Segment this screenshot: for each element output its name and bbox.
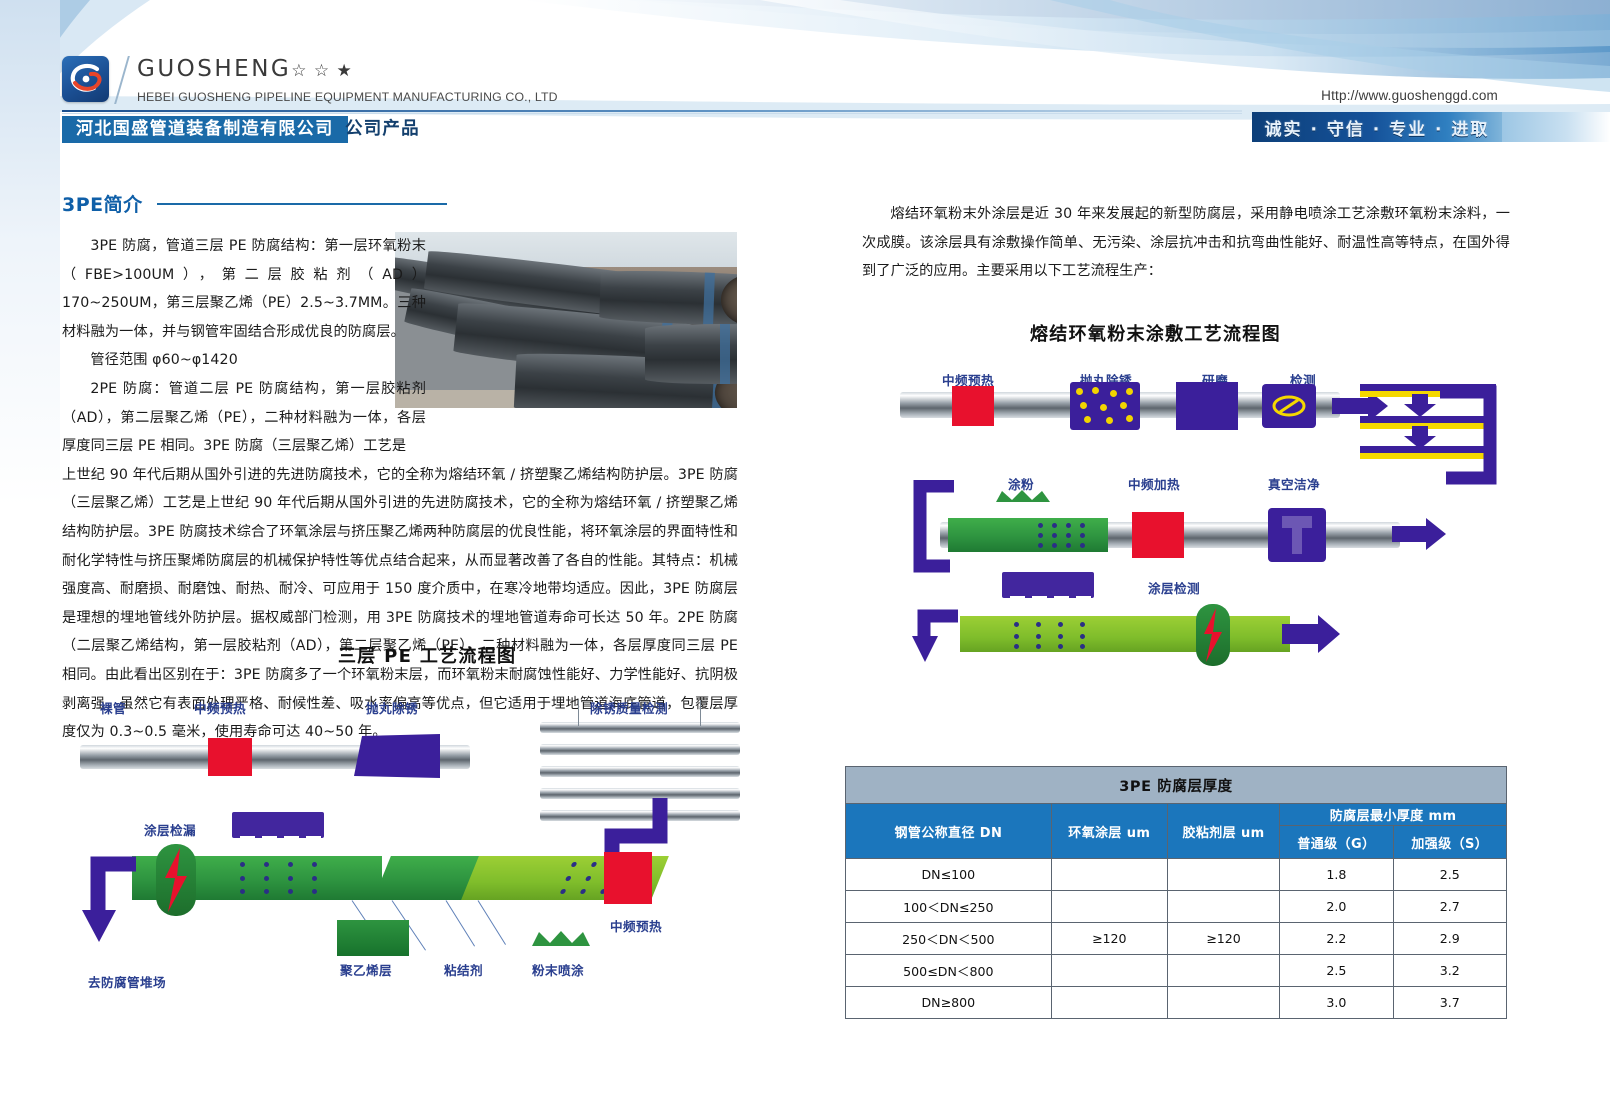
arrow-right-r2 [1392, 516, 1450, 552]
out-arrow-r3 [910, 600, 964, 674]
water-drip [1032, 596, 1047, 610]
cell-dn: 500≤DN＜800 [846, 955, 1052, 987]
pe-layer-swatch [337, 920, 409, 956]
cell-dn: 100＜DN≤250 [846, 891, 1052, 923]
preheat-coil-left [208, 738, 252, 776]
th-min-thickness: 防腐层最小厚度 mm [1280, 804, 1507, 826]
company-name-cn: 河北国盛管道装备制造有限公司 [62, 116, 348, 143]
left-edge-gradient [0, 0, 60, 1100]
cell-dn: DN≤100 [846, 859, 1052, 891]
th-enhanced-grade: 加强级（S） [1393, 826, 1506, 859]
arrow-down-vacuum [1404, 426, 1440, 450]
brochure-page: GUOSHENG☆ ☆ ★ HEBEI GUOSHENG PIPELINE EQ… [0, 0, 1610, 1100]
vacuum-unit-r2 [1268, 508, 1326, 562]
logo-divider [114, 56, 130, 104]
products-label-cn: 公司产品 [345, 115, 420, 140]
qc-tick [578, 700, 579, 726]
left-text-column: 3PE 防腐，管道三层 PE 防腐结构：第一层环氧粉末（FBE>100UM），第… [62, 232, 738, 747]
brand-stars-icon: ☆ ☆ ★ [291, 61, 353, 81]
cell-normal: 3.0 [1280, 987, 1393, 1019]
section-title-text: 3PE简介 [62, 190, 143, 217]
qc-tick [700, 700, 701, 726]
section-title-rule [157, 203, 447, 205]
label-to-yard: 去防腐管堆场 [88, 972, 166, 991]
brand-subtitle-en: HEBEI GUOSHENG PIPELINE EQUIPMENT MANUFA… [137, 90, 558, 104]
shotblast-unit-r1 [1070, 382, 1140, 430]
water-drip [1054, 596, 1069, 610]
label-pe-layer: 聚乙烯层 [340, 960, 392, 979]
label-preheat-left-2: 中频预热 [610, 916, 662, 935]
cell-adhesive [1167, 987, 1279, 1019]
water-drip [1010, 596, 1025, 610]
cell-enhanced: 2.7 [1393, 891, 1506, 923]
label-coating-test-r3: 涂层检测 [1148, 578, 1200, 597]
grind-unit-r1 [1176, 382, 1238, 430]
shotblast-unit-left [352, 732, 442, 780]
guosheng-logo-icon [62, 56, 109, 102]
label-rust-qc: 除锈质量检测 [590, 698, 668, 717]
label-induction-heat-r2: 中频加热 [1128, 474, 1180, 493]
water-drip [306, 836, 321, 850]
callout-line [446, 900, 475, 946]
th-normal-grade: 普通级（G） [1280, 826, 1393, 859]
th-adhesive: 胶粘剂层 um [1167, 804, 1279, 859]
brand-name-en: GUOSHENG☆ ☆ ★ [137, 56, 558, 81]
arrow-right-r3 [1282, 612, 1344, 656]
preheat-coil-left-2 [604, 852, 652, 904]
header-rule-secondary [62, 113, 1242, 114]
table-caption: 3PE 防腐层厚度 [846, 767, 1507, 804]
cell-adhesive [1167, 859, 1279, 891]
water-drip [240, 836, 255, 850]
return-path-r1 [1438, 384, 1506, 486]
slogan-text: 诚实 · 守信 · 专业 · 进取 [1265, 115, 1490, 140]
label-vacuum-clean-r2: 真空洁净 [1268, 474, 1320, 493]
cell-normal: 2.0 [1280, 891, 1393, 923]
right-diagram-title: 熔结环氧粉末涂敷工艺流程图 [1030, 320, 1281, 346]
website-url[interactable]: Http://www.guoshenggd.com [1321, 88, 1498, 103]
cell-adhesive: ≥120 [1167, 923, 1279, 955]
table-caption-row: 3PE 防腐层厚度 [846, 767, 1507, 804]
cell-enhanced: 3.7 [1393, 987, 1506, 1019]
table-row: DN≥800 3.0 3.7 [846, 987, 1507, 1019]
out-arrow-left [78, 846, 144, 978]
table-row: 250＜DN＜500 ≥120 ≥120 2.2 2.9 [846, 923, 1507, 955]
cell-epoxy [1051, 891, 1167, 923]
induction-heater-r2 [1132, 512, 1184, 558]
th-epoxy: 环氧涂层 um [1051, 804, 1167, 859]
cell-epoxy [1051, 987, 1167, 1019]
table-row: 100＜DN≤250 2.0 2.7 [846, 891, 1507, 923]
coating-tester-r3 [1196, 604, 1230, 666]
feed-path-r2 [910, 480, 960, 580]
coating-green-r3 [960, 616, 1290, 652]
label-adhesive: 粘结剂 [444, 960, 483, 979]
callout-line [478, 900, 506, 945]
cell-enhanced: 2.9 [1393, 923, 1506, 955]
water-cool-unit-left [232, 812, 324, 838]
slogan-tail-decoration [1502, 112, 1610, 142]
table-header-row-1: 钢管公称直径 DN 环氧涂层 um 胶粘剂层 um 防腐层最小厚度 mm [846, 804, 1507, 826]
cell-epoxy [1051, 955, 1167, 987]
th-dn: 钢管公称直径 DN [846, 804, 1052, 859]
cell-normal: 2.5 [1280, 955, 1393, 987]
cell-normal: 2.2 [1280, 923, 1393, 955]
inspect-unit-r1 [1262, 384, 1316, 428]
water-drip [284, 836, 299, 850]
cell-adhesive [1167, 955, 1279, 987]
leak-detector-left [156, 844, 196, 916]
powder-spray-icon [528, 926, 596, 948]
cell-dn: DN≥800 [846, 987, 1052, 1019]
powder-hopper-icon [992, 486, 1058, 504]
table-row: 500≤DN＜800 2.5 3.2 [846, 955, 1507, 987]
header-rule [62, 110, 1242, 112]
company-logo-block: GUOSHENG☆ ☆ ★ HEBEI GUOSHENG PIPELINE EQ… [62, 56, 558, 104]
brand-text: GUOSHENG [137, 56, 291, 82]
water-cool-unit-r3 [1002, 572, 1094, 598]
label-leak-test: 涂层检漏 [144, 820, 196, 839]
coating-thickness-table: 3PE 防腐层厚度 钢管公称直径 DN 环氧涂层 um 胶粘剂层 um 防腐层最… [845, 766, 1507, 1019]
water-drip [1076, 596, 1091, 610]
label-shotblast-left: 抛丸除锈 [366, 698, 418, 717]
left-diagram-title: 三层 PE 工艺流程图 [338, 642, 516, 668]
cell-normal: 1.8 [1280, 859, 1393, 891]
company-slogan-banner: 诚实 · 守信 · 专业 · 进取 [1252, 112, 1502, 142]
label-preheat-left: 中频预热 [194, 698, 246, 717]
cell-enhanced: 3.2 [1393, 955, 1506, 987]
cell-epoxy [1051, 859, 1167, 891]
cell-adhesive [1167, 891, 1279, 923]
preheat-coil-r1 [952, 386, 994, 426]
photo-text-wrap-spacer [436, 232, 738, 412]
label-bare-pipe: 裸管 [100, 698, 126, 717]
cell-epoxy: ≥120 [1051, 923, 1167, 955]
water-drip [262, 836, 277, 850]
right-text-column: 熔结环氧粉末外涂层是近 30 年来发展起的新型防腐层，采用静电喷涂工艺涂敷环氧粉… [862, 200, 1510, 286]
coating-green-r2 [948, 518, 1108, 552]
table-row: DN≤100 1.8 2.5 [846, 859, 1507, 891]
cell-dn: 250＜DN＜500 [846, 923, 1052, 955]
section-title-3pe: 3PE简介 [62, 190, 447, 217]
arrow-down-vacuum [1404, 394, 1440, 418]
label-powder-spray: 粉末喷涂 [532, 960, 584, 979]
cell-enhanced: 2.5 [1393, 859, 1506, 891]
paragraph-fbe-intro: 熔结环氧粉末外涂层是近 30 年来发展起的新型防腐层，采用静电喷涂工艺涂敷环氧粉… [862, 200, 1510, 286]
